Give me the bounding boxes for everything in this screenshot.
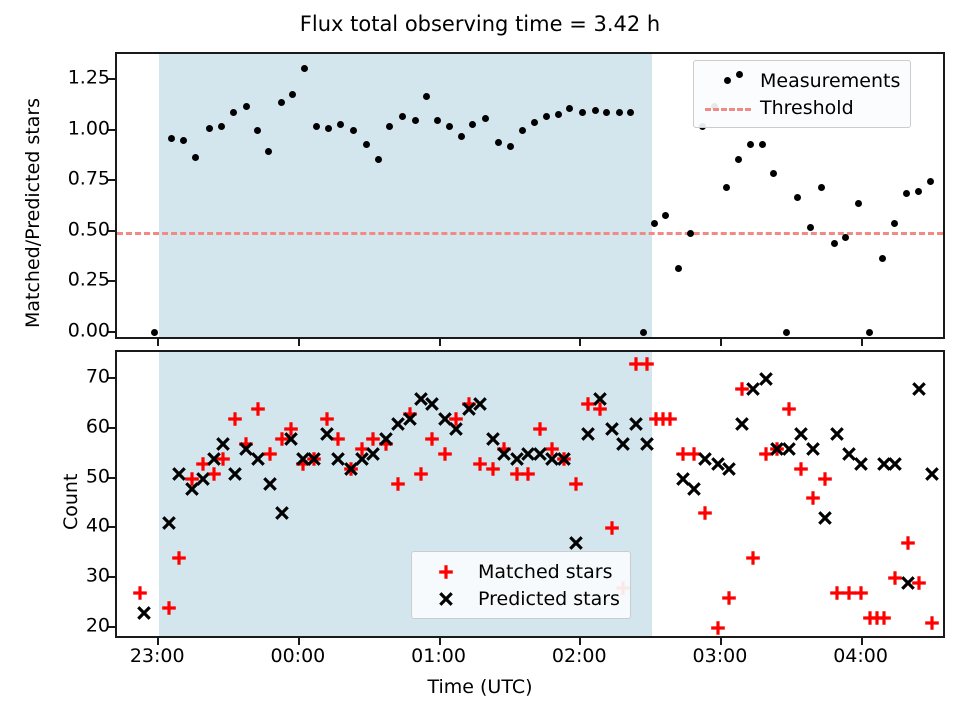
measurement-point <box>687 230 694 237</box>
measurement-point <box>592 107 599 114</box>
measurement-point <box>543 113 550 120</box>
legend-label-measurements: Measurements <box>754 70 900 92</box>
y-axis-tick-label: 30 <box>86 566 110 585</box>
measurement-point <box>759 141 766 148</box>
x-axis-tick <box>720 638 722 645</box>
y-axis-tick-label: 50 <box>86 467 110 486</box>
y-axis-tick-label: 1.00 <box>68 119 110 138</box>
measurement-point <box>218 123 225 130</box>
figure-container: Flux total observing time = 3.42 h 0.000… <box>0 0 960 720</box>
y-axis-tick-label: 0.25 <box>68 271 110 290</box>
y-axis-tick-label: 70 <box>86 368 110 387</box>
cross-marker-icon <box>420 588 472 610</box>
x-axis-tick-label: 04:00 <box>833 647 888 666</box>
measurement-point <box>423 93 430 100</box>
measurement-point <box>723 184 730 191</box>
x-axis-tick <box>861 638 863 645</box>
y-axis-tick-label: 60 <box>86 417 110 436</box>
measurement-point <box>927 178 934 185</box>
y-axis-tick-label: 0.00 <box>68 321 110 340</box>
x-axis-tick <box>579 638 581 645</box>
bottom-panel-legend[interactable]: Matched stars Predicted stars <box>411 551 631 619</box>
legend-item-threshold[interactable]: Threshold <box>702 94 900 121</box>
measurement-point <box>446 123 453 130</box>
x-axis-tick <box>157 638 159 645</box>
measurement-point <box>903 190 910 197</box>
measurement-point <box>675 265 682 272</box>
top-panel-y-axis-label: Matched/Predicted stars <box>22 98 44 328</box>
measurement-point <box>519 127 526 134</box>
threshold-dashed-line-icon <box>702 97 754 119</box>
bottom-panel-y-axis-label: Count <box>60 474 82 530</box>
legend-item-matched-stars[interactable]: Matched stars <box>420 558 620 585</box>
x-axis-tick <box>579 339 581 346</box>
x-axis-tick-label: 00:00 <box>270 647 325 666</box>
measurement-point <box>651 220 658 227</box>
measurement-point <box>616 109 623 116</box>
y-axis-tick-label: 1.25 <box>68 69 110 88</box>
measurement-point <box>243 103 250 110</box>
top-panel-legend[interactable]: Measurements Threshold <box>693 60 911 128</box>
x-axis-tick <box>439 339 441 346</box>
measurement-point <box>265 148 272 155</box>
measurement-point <box>842 234 849 241</box>
x-axis-tick-label: 23:00 <box>130 647 185 666</box>
measurement-point <box>831 240 838 247</box>
measurement-point <box>325 125 332 132</box>
measurement-point <box>807 224 814 231</box>
x-axis-tick-label: 03:00 <box>693 647 748 666</box>
x-axis-tick <box>861 339 863 346</box>
bottom-panel-x-ticks: 23:0000:0001:0002:0003:0004:00 <box>115 638 945 678</box>
y-axis-tick-label: 0.50 <box>68 220 110 239</box>
x-axis-tick <box>720 339 722 346</box>
x-axis-tick-label: 01:00 <box>411 647 466 666</box>
x-axis-tick-label: 02:00 <box>552 647 607 666</box>
y-axis-tick-label: 0.75 <box>68 170 110 189</box>
measurement-point <box>363 141 370 148</box>
legend-item-predicted-stars[interactable]: Predicted stars <box>420 585 620 612</box>
measurement-point <box>770 170 777 177</box>
measurement-point <box>151 329 158 336</box>
measurement-point <box>783 329 790 336</box>
x-axis-tick <box>298 339 300 346</box>
measurement-point <box>192 154 199 161</box>
legend-label-matched-stars: Matched stars <box>472 561 612 583</box>
measurement-point <box>735 156 742 163</box>
observing-window-shading <box>159 54 651 337</box>
top-panel-x-ticks <box>115 339 945 349</box>
page-title: Flux total observing time = 3.42 h <box>0 12 960 36</box>
y-axis-tick-label: 40 <box>86 517 110 536</box>
measurement-point <box>301 65 308 72</box>
measurement-point <box>747 141 754 148</box>
x-axis-tick <box>157 339 159 346</box>
threshold-line <box>117 232 943 235</box>
measurement-point <box>818 184 825 191</box>
measurement-point <box>879 255 886 262</box>
measurement-point <box>794 194 801 201</box>
plus-marker-icon <box>420 561 472 583</box>
measurement-point <box>662 212 669 219</box>
y-axis-tick-label: 20 <box>86 616 110 635</box>
measurement-point <box>915 188 922 195</box>
x-axis-tick <box>298 638 300 645</box>
measurement-point <box>412 117 419 124</box>
measurement-point <box>855 200 862 207</box>
legend-item-measurements[interactable]: Measurements <box>702 67 900 94</box>
measurement-point <box>891 220 898 227</box>
legend-label-predicted-stars: Predicted stars <box>472 588 620 610</box>
legend-label-threshold: Threshold <box>754 97 854 119</box>
measurement-point <box>375 156 382 163</box>
measurements-dot-icon <box>702 70 754 92</box>
x-axis-tick <box>439 638 441 645</box>
measurement-point <box>866 329 873 336</box>
x-axis-label: Time (UTC) <box>0 676 960 698</box>
